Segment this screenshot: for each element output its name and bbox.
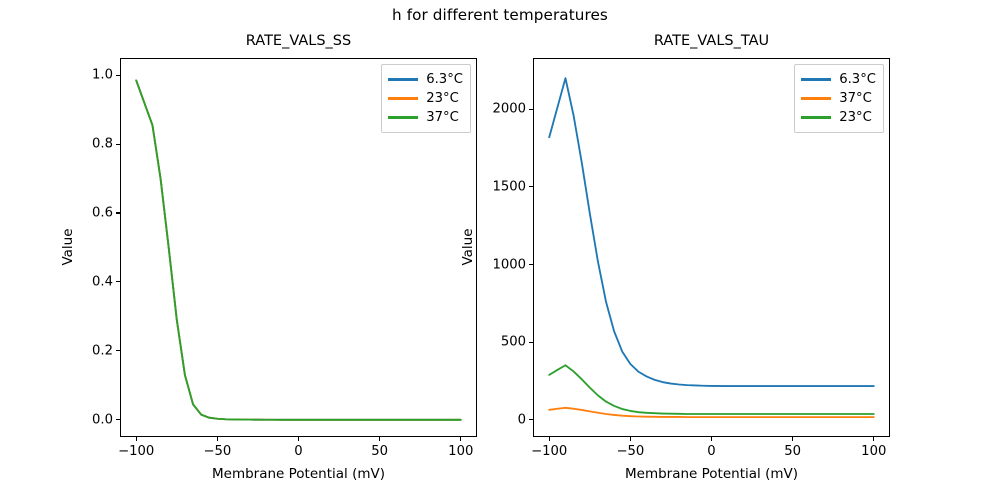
xtick-label: −50 xyxy=(203,444,231,459)
xtick-label: 100 xyxy=(448,444,473,459)
legend-item: 23°C xyxy=(388,89,463,108)
ytick-mark xyxy=(116,350,120,351)
axes-title-left: RATE_VALS_SS xyxy=(120,33,477,49)
xtick-mark xyxy=(711,437,712,441)
legend: 6.3°C23°C37°C xyxy=(381,64,471,133)
ytick-label: 1.0 xyxy=(60,68,113,83)
legend-label: 23°C xyxy=(426,91,459,106)
legend-line-swatch xyxy=(801,97,831,99)
xtick-label: −100 xyxy=(118,444,154,459)
ytick-label: 1000 xyxy=(473,257,526,272)
ytick-mark xyxy=(116,281,120,282)
legend-line-swatch xyxy=(801,78,831,80)
legend-label: 6.3°C xyxy=(839,72,876,87)
legend-line-swatch xyxy=(801,116,831,118)
xtick-label: −50 xyxy=(616,444,644,459)
legend-item: 6.3°C xyxy=(388,70,463,89)
xtick-label: 0 xyxy=(294,444,302,459)
ytick-mark xyxy=(529,186,533,187)
legend-label: 37°C xyxy=(839,91,872,106)
ytick-mark xyxy=(529,264,533,265)
ytick-mark xyxy=(529,342,533,343)
xtick-mark xyxy=(379,437,380,441)
xtick-mark xyxy=(549,437,550,441)
legend-item: 37°C xyxy=(801,89,876,108)
ytick-mark xyxy=(529,419,533,420)
axes-rate-vals-ss: RATE_VALS_SS −100−500501000.00.20.40.60.… xyxy=(120,58,477,437)
matplotlib-figure: h for different temperatures RATE_VALS_S… xyxy=(0,0,1000,500)
ytick-label: 1500 xyxy=(473,179,526,194)
legend-line-swatch xyxy=(388,116,418,118)
xtick-mark xyxy=(630,437,631,441)
xtick-label: −100 xyxy=(531,444,567,459)
yaxis-label: Value xyxy=(60,207,76,287)
axes-rate-vals-tau: RATE_VALS_TAU −100−500501000500100015002… xyxy=(533,58,890,437)
xtick-mark xyxy=(873,437,874,441)
axes-title-right: RATE_VALS_TAU xyxy=(533,33,890,49)
xtick-mark xyxy=(298,437,299,441)
figure-suptitle: h for different temperatures xyxy=(0,6,1000,24)
ytick-label: 2000 xyxy=(473,102,526,117)
legend-label: 6.3°C xyxy=(426,72,463,87)
legend-label: 37°C xyxy=(426,110,459,125)
legend-item: 23°C xyxy=(801,108,876,127)
ytick-mark xyxy=(116,419,120,420)
ytick-mark xyxy=(116,75,120,76)
ytick-label: 0.0 xyxy=(60,412,113,427)
legend-line-swatch xyxy=(388,97,418,99)
ytick-label: 0 xyxy=(473,412,526,427)
xaxis-label: Membrane Potential (mV) xyxy=(533,466,890,482)
xtick-mark xyxy=(217,437,218,441)
ytick-label: 0.8 xyxy=(60,137,113,152)
xtick-label: 0 xyxy=(707,444,715,459)
xtick-label: 100 xyxy=(861,444,886,459)
xaxis-label: Membrane Potential (mV) xyxy=(120,466,477,482)
xtick-mark xyxy=(460,437,461,441)
ytick-label: 0.2 xyxy=(60,343,113,358)
legend-line-swatch xyxy=(388,78,418,80)
yaxis-label: Value xyxy=(460,207,476,287)
line-series-23C xyxy=(549,365,874,414)
xtick-label: 50 xyxy=(371,444,388,459)
legend-label: 23°C xyxy=(839,110,872,125)
ytick-mark xyxy=(116,212,120,213)
legend-item: 37°C xyxy=(388,108,463,127)
ytick-mark xyxy=(116,144,120,145)
line-series-37C xyxy=(549,408,874,417)
xtick-label: 50 xyxy=(784,444,801,459)
ytick-label: 500 xyxy=(473,335,526,350)
ytick-mark xyxy=(529,109,533,110)
legend-item: 6.3°C xyxy=(801,70,876,89)
xtick-mark xyxy=(136,437,137,441)
xtick-mark xyxy=(792,437,793,441)
legend: 6.3°C37°C23°C xyxy=(794,64,884,133)
